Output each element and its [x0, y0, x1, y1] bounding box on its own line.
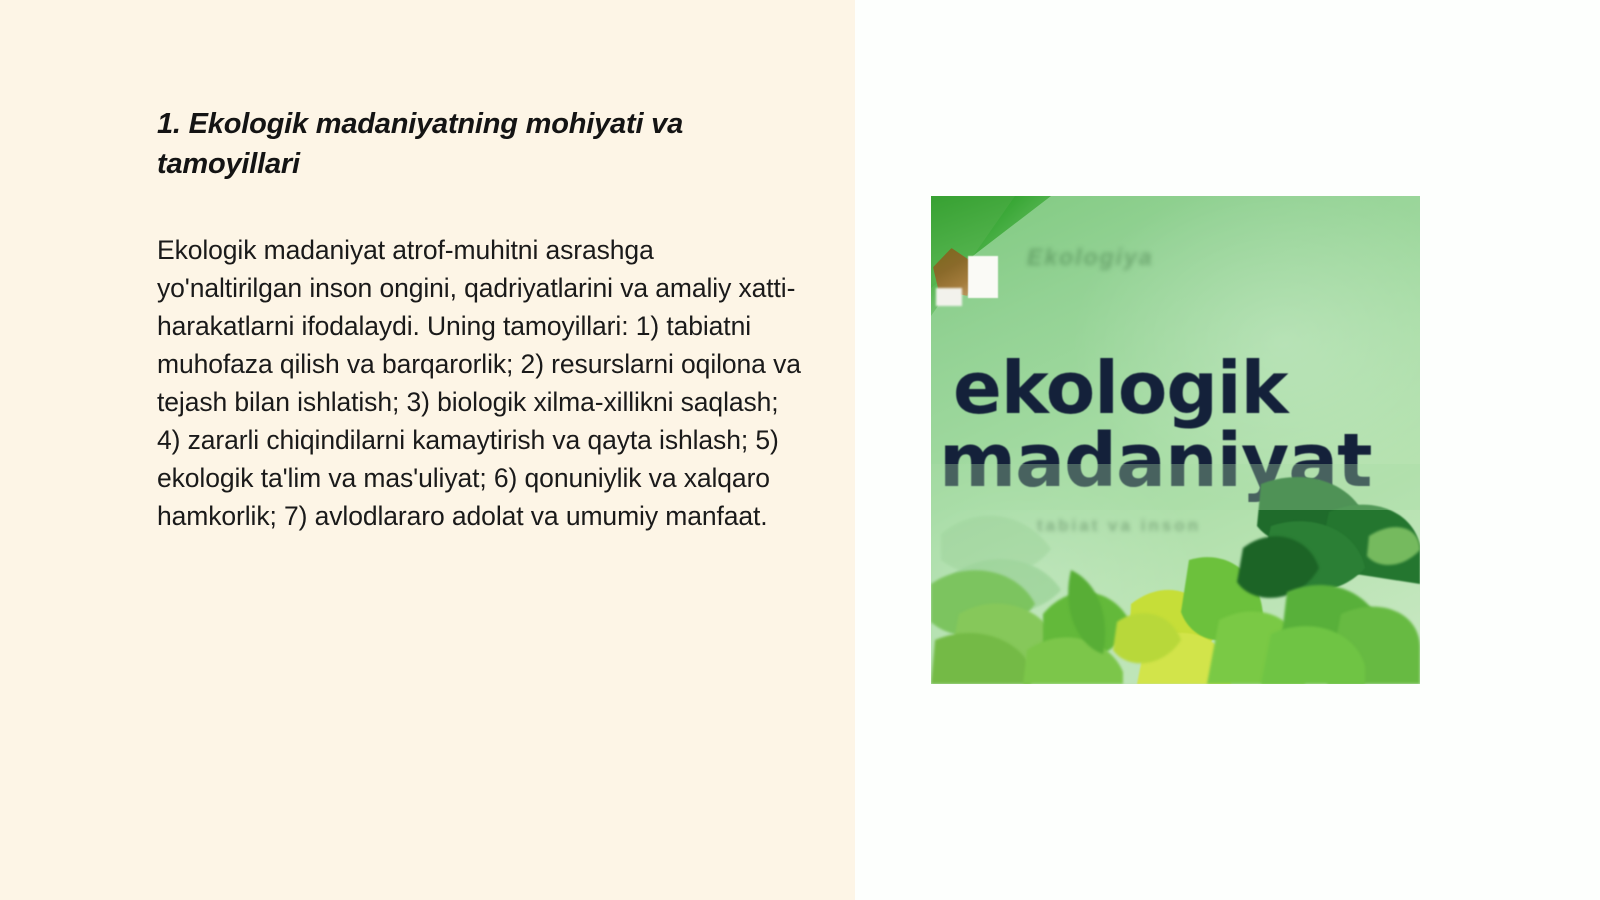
slide-body-paragraph: Ekologik madaniyat atrof-muhitni asrashg…: [157, 231, 802, 535]
book-cover-image: Ekologiya ekologik madaniyat tabiat va i…: [931, 196, 1420, 684]
text-block: 1. Ekologik madaniyatning mohiyati va ta…: [157, 104, 802, 535]
white-square-shape: [968, 256, 998, 298]
left-content-panel: 1. Ekologik madaniyatning mohiyati va ta…: [0, 0, 855, 900]
white-square-2-shape: [936, 288, 962, 306]
cover-script-text: Ekologiya: [1027, 244, 1154, 271]
slide-title: 1. Ekologik madaniyatning mohiyati va ta…: [157, 104, 802, 184]
leaves-svg: [931, 464, 1420, 684]
slide-canvas: 1. Ekologik madaniyatning mohiyati va ta…: [0, 0, 1600, 900]
leaf-cluster: [931, 464, 1420, 684]
